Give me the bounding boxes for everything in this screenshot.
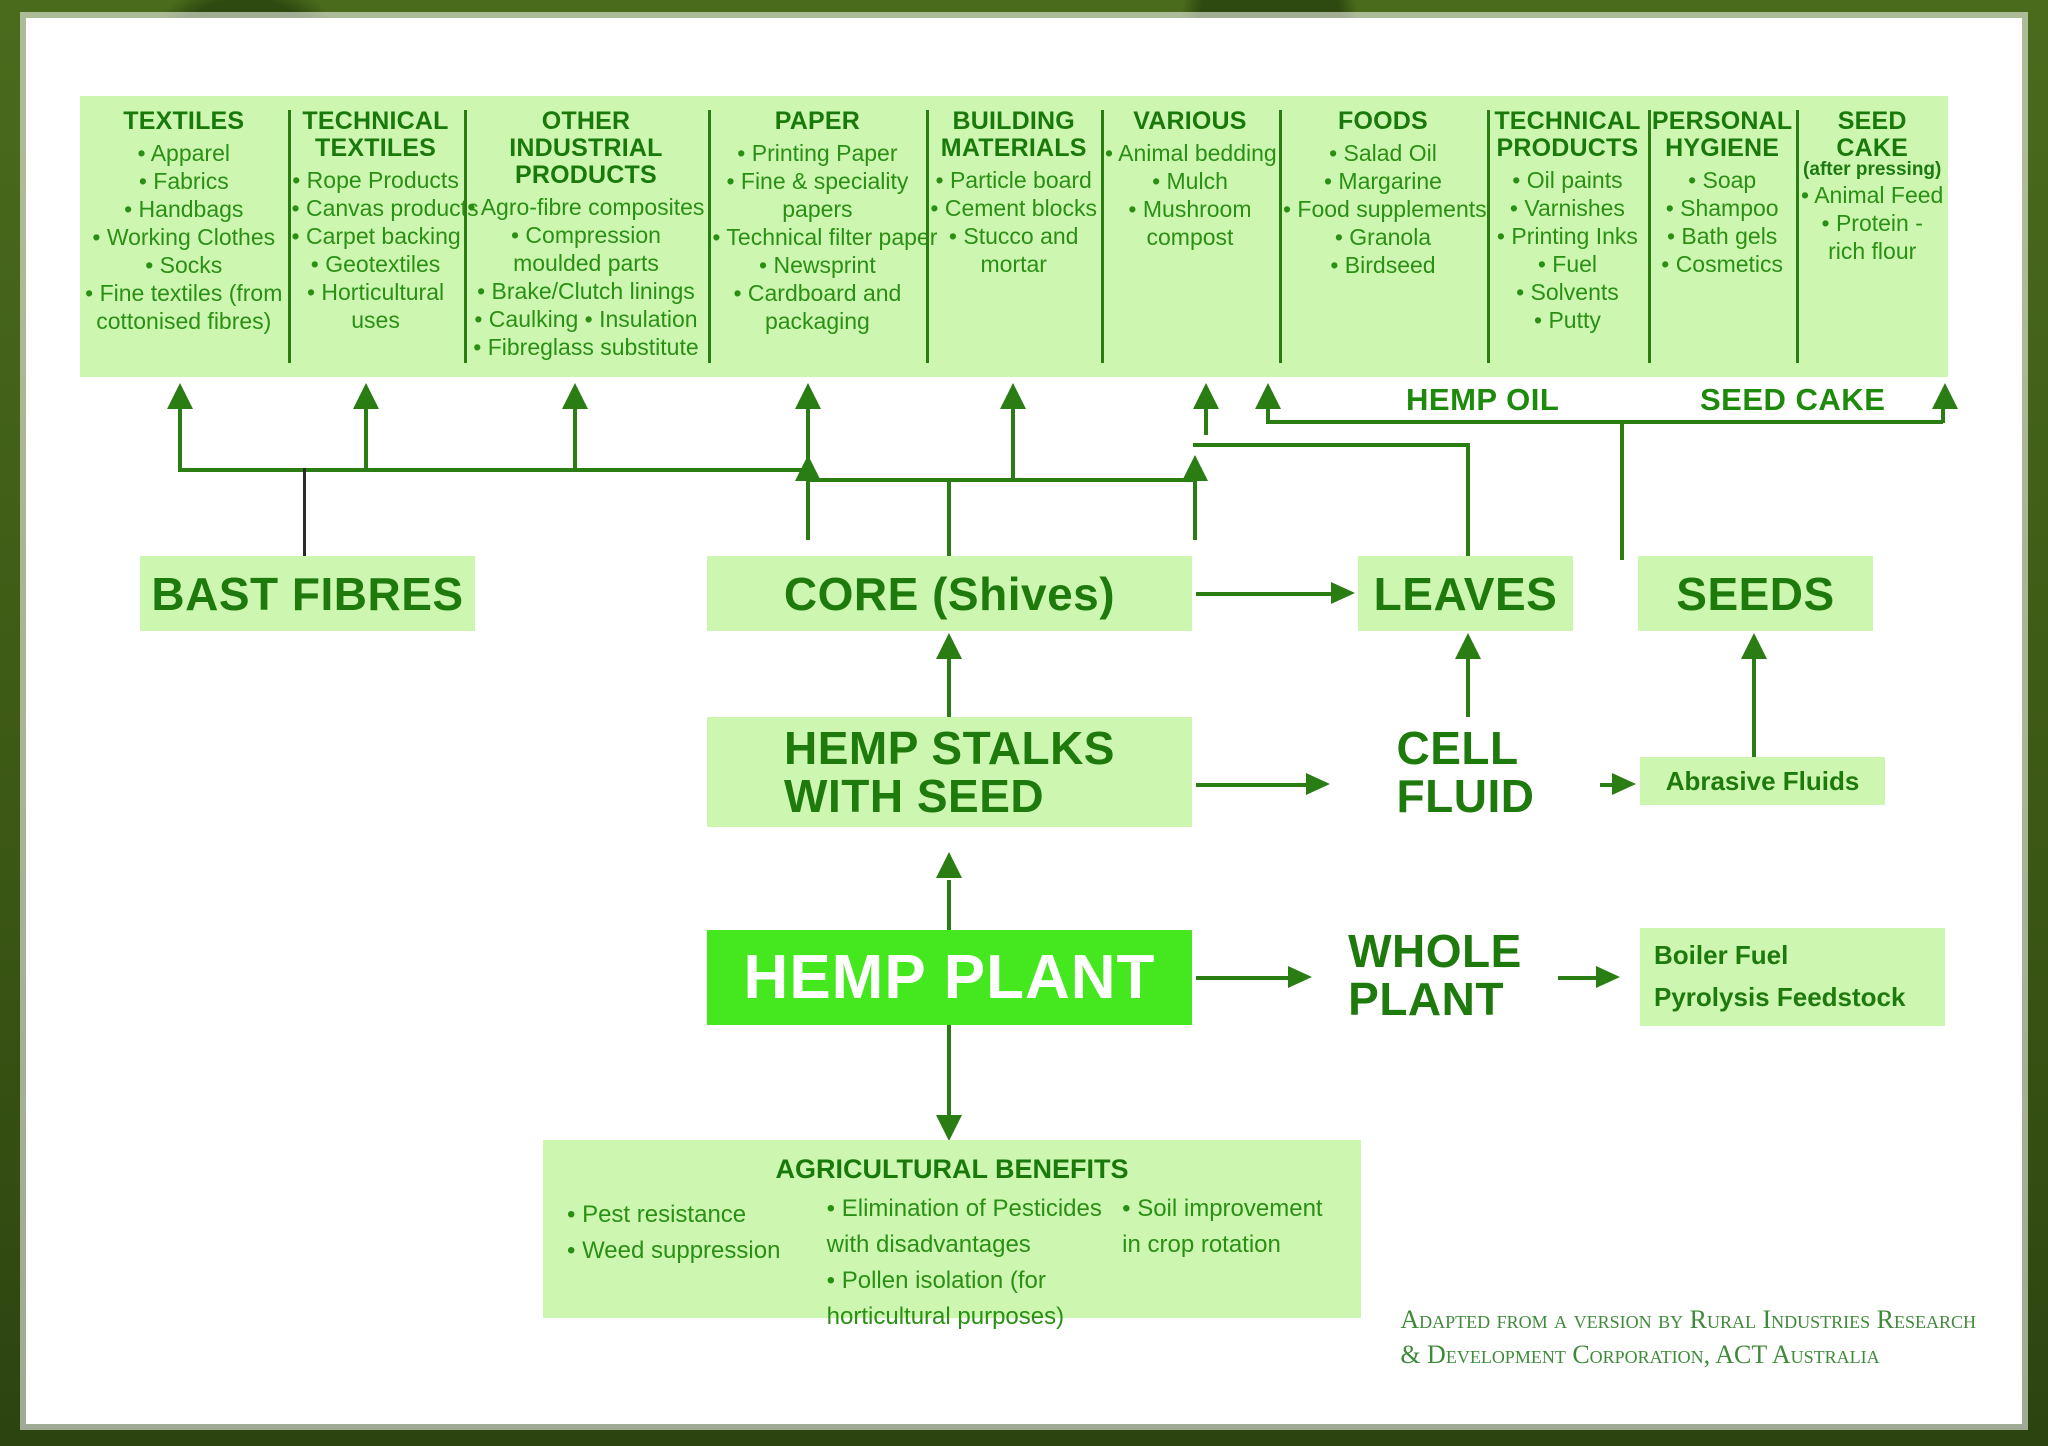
list-item: • Fine & speciality papers <box>712 167 922 223</box>
riser-other-industrial <box>573 405 577 470</box>
cellfluid-to-leaves-line <box>1466 657 1470 717</box>
whole-to-boiler-line <box>1558 976 1600 980</box>
box-abrasive-fluids[interactable]: Abrasive Fluids <box>1640 757 1885 805</box>
list-item: • Weed suppression <box>567 1233 827 1269</box>
list-item: • Apparel <box>84 139 284 167</box>
list-item: • Compression moulded parts <box>468 221 705 277</box>
label-seed-cake: SEED CAKE <box>1700 382 1885 418</box>
plant-to-stalks-arrowhead <box>936 852 962 878</box>
list-item: • Cosmetics <box>1652 250 1793 278</box>
list-item: • Stucco and mortar <box>930 222 1097 278</box>
list-item: • Soap <box>1652 166 1793 194</box>
list-item: • Fuel <box>1491 250 1644 278</box>
column-list: • Apparel • Fabrics • Handbags • Working… <box>84 139 284 335</box>
column-list: • Agro-fibre composites • Compression mo… <box>468 193 705 361</box>
product-column-building-materials: BUILDINGMATERIALS • Particle board • Cem… <box>926 96 1101 377</box>
boiler-fuel-label: Boiler Fuel <box>1654 935 1788 977</box>
list-item: • Cement blocks <box>930 194 1097 222</box>
list-item: • Granola <box>1283 223 1483 251</box>
list-item: • Margarine <box>1283 167 1483 195</box>
list-item: • Shampoo <box>1652 194 1793 222</box>
bast-bus-bar <box>178 468 810 472</box>
list-item: • Socks <box>84 251 284 279</box>
core-stem <box>947 478 951 558</box>
list-item: • Handbags <box>84 195 284 223</box>
column-list: • Salad Oil • Margarine • Food supplemen… <box>1283 139 1483 279</box>
box-core-shives[interactable]: CORE (Shives) <box>707 556 1192 631</box>
list-item: • Carpet backing <box>292 222 460 250</box>
product-column-various: VARIOUS • Animal bedding • Mulch • Mushr… <box>1101 96 1279 377</box>
list-item: • Technical filter paper <box>712 223 922 251</box>
column-list: • Animal bedding • Mulch • Mushroom comp… <box>1105 139 1275 251</box>
column-title: PERSONALHYGIENE <box>1652 108 1793 162</box>
list-item: • Geotextiles <box>292 250 460 278</box>
product-column-technical-products: TECHNICALPRODUCTS • Oil paints • Varnish… <box>1487 96 1648 377</box>
list-item: • Putty <box>1491 306 1644 334</box>
core-to-leaves-arrowhead <box>1331 582 1355 604</box>
list-item: • Pest resistance <box>567 1197 827 1233</box>
column-title: TECHNICALTEXTILES <box>292 108 460 162</box>
riser-textiles <box>178 405 182 470</box>
list-item: • Printing Paper <box>712 139 922 167</box>
list-item: • Mushroom compost <box>1105 195 1275 251</box>
riser-various-core <box>1193 480 1197 540</box>
stalks-to-cellfluid-line <box>1196 783 1308 787</box>
oil-seedcake-bus <box>1266 420 1943 424</box>
list-item: • Fabrics <box>84 167 284 195</box>
list-item: • Fine textiles (from cottonised fibres) <box>84 279 284 335</box>
list-item: • Fibreglass substitute <box>468 333 705 361</box>
column-list: • Rope Products • Canvas products • Carp… <box>292 166 460 334</box>
list-item: • Solvents <box>1491 278 1644 306</box>
list-item: • Animal Feed <box>1800 181 1944 209</box>
list-item: • Newsprint <box>712 251 922 279</box>
hemp-products-diagram: TEXTILES • Apparel • Fabrics • Handbags … <box>0 0 2048 1446</box>
credit-line-2: & Development Corporation, ACT Australia <box>1400 1337 1976 1372</box>
column-list: • Particle board • Cement blocks • Stucc… <box>930 166 1097 278</box>
column-title: PAPER <box>712 108 922 135</box>
riser-building-materials <box>1011 405 1015 480</box>
box-hemp-stalks-with-seed[interactable]: HEMP STALKSWITH SEED <box>707 717 1192 827</box>
list-item: • Oil paints <box>1491 166 1644 194</box>
column-title: TEXTILES <box>84 108 284 135</box>
benefits-columns: • Pest resistance • Weed suppression • E… <box>543 1185 1361 1351</box>
list-item: • Birdseed <box>1283 251 1483 279</box>
cellfluid-to-leaves-arrowhead <box>1455 633 1481 659</box>
bast-fibres-stem <box>303 468 306 556</box>
box-seeds[interactable]: SEEDS <box>1638 556 1873 631</box>
core-bus-bar <box>806 478 1196 482</box>
list-item: • Agro-fibre composites <box>468 193 705 221</box>
product-column-foods: FOODS • Salad Oil • Margarine • Food sup… <box>1279 96 1487 377</box>
list-item: • Working Clothes <box>84 223 284 251</box>
product-column-personal-hygiene: PERSONALHYGIENE • Soap • Shampoo • Bath … <box>1648 96 1797 377</box>
column-title: TECHNICALPRODUCTS <box>1491 108 1644 162</box>
arrowhead-seed-cake <box>1932 383 1958 409</box>
box-bast-fibres[interactable]: BAST FIBRES <box>140 556 475 631</box>
list-item: • Food supplements <box>1283 195 1483 223</box>
column-list: • Printing Paper • Fine & speciality pap… <box>712 139 922 335</box>
leaves-bus <box>1193 443 1470 447</box>
box-whole-plant[interactable]: WHOLEPLANT <box>1320 920 1550 1030</box>
label-hemp-oil: HEMP OIL <box>1406 382 1559 418</box>
list-item: • Protein - rich flour <box>1800 209 1944 265</box>
products-strip: TEXTILES • Apparel • Fabrics • Handbags … <box>80 96 1948 377</box>
plant-to-whole-line <box>1196 976 1291 980</box>
riser-various <box>1204 405 1208 435</box>
plant-to-benefits-line <box>947 1025 951 1125</box>
list-item: • Cardboard and packaging <box>712 279 922 335</box>
column-subtitle: (after pressing) <box>1800 160 1944 181</box>
box-line-1: HEMP STALKSWITH SEED <box>784 724 1115 821</box>
column-title: OTHERINDUSTRIALPRODUCTS <box>468 108 705 189</box>
plant-to-benefits-arrowhead <box>936 1115 962 1141</box>
benefits-title: AGRICULTURAL BENEFITS <box>543 1140 1361 1185</box>
stalks-to-core-line <box>947 657 951 717</box>
product-column-paper: PAPER • Printing Paper • Fine & speciali… <box>708 96 926 377</box>
box-cell-fluid[interactable]: CELLFLUID <box>1338 717 1593 827</box>
list-item: • Caulking • Insulation <box>468 305 705 333</box>
list-item: • Bath gels <box>1652 222 1793 250</box>
whole-to-boiler-arrowhead <box>1596 966 1620 988</box>
column-list: • Animal Feed • Protein - rich flour <box>1800 181 1944 265</box>
plant-to-whole-arrowhead <box>1288 966 1312 988</box>
list-item: • Particle board <box>930 166 1097 194</box>
list-item: • Mulch <box>1105 167 1275 195</box>
riser-paper-core <box>806 480 810 540</box>
list-item: • Salad Oil <box>1283 139 1483 167</box>
list-item: • Soil improvement in crop rotation <box>1122 1191 1337 1263</box>
leaves-stem <box>1466 445 1470 560</box>
stalks-to-core-arrowhead <box>936 633 962 659</box>
credit-line-1: Adapted from a version by Rural Industri… <box>1400 1302 1976 1337</box>
product-column-technical-textiles: TECHNICALTEXTILES • Rope Products • Canv… <box>288 96 464 377</box>
agricultural-benefits-box: AGRICULTURAL BENEFITS • Pest resistance … <box>543 1140 1361 1318</box>
column-title: FOODS <box>1283 108 1483 135</box>
column-list: • Oil paints • Varnishes • Printing Inks… <box>1491 166 1644 334</box>
seeds-stem <box>1620 420 1624 560</box>
benefits-column-1: • Pest resistance • Weed suppression <box>567 1191 827 1335</box>
column-list: • Soap • Shampoo • Bath gels • Cosmetics <box>1652 166 1793 278</box>
box-leaves[interactable]: LEAVES <box>1358 556 1573 631</box>
list-item: • Elimination of Pesticides with disadva… <box>827 1191 1122 1263</box>
product-column-other-industrial: OTHERINDUSTRIALPRODUCTS • Agro-fibre com… <box>464 96 709 377</box>
riser-seed-cake <box>1941 405 1945 423</box>
column-title: SEEDCAKE <box>1800 108 1944 162</box>
list-item: • Varnishes <box>1491 194 1644 222</box>
pyrolysis-label: Pyrolysis Feedstock <box>1654 977 1905 1019</box>
box-boiler-fuel-pyrolysis[interactable]: Boiler Fuel Pyrolysis Feedstock <box>1640 928 1945 1026</box>
list-item: • Horticultural uses <box>292 278 460 334</box>
list-item: • Rope Products <box>292 166 460 194</box>
list-item: • Printing Inks <box>1491 222 1644 250</box>
list-item: • Brake/Clutch linings <box>468 277 705 305</box>
riser-technical-textiles <box>364 405 368 470</box>
abrasive-to-seeds-arrowhead <box>1741 633 1767 659</box>
column-title: BUILDINGMATERIALS <box>930 108 1097 162</box>
column-title: VARIOUS <box>1105 108 1275 135</box>
box-hemp-plant[interactable]: HEMP PLANT <box>707 930 1192 1025</box>
core-to-leaves-line <box>1196 592 1333 596</box>
list-item: • Pollen isolation (for horticultural pu… <box>827 1263 1122 1335</box>
list-item: • Canvas products <box>292 194 460 222</box>
stalks-to-cellfluid-arrowhead <box>1306 773 1330 795</box>
list-item: • Animal bedding <box>1105 139 1275 167</box>
benefits-column-2: • Elimination of Pesticides with disadva… <box>827 1191 1122 1335</box>
benefits-column-3: • Soil improvement in crop rotation <box>1122 1191 1337 1335</box>
credit-attribution: Adapted from a version by Rural Industri… <box>1400 1302 1976 1372</box>
cellfluid-to-abrasive-arrowhead <box>1612 773 1636 795</box>
product-column-textiles: TEXTILES • Apparel • Fabrics • Handbags … <box>80 96 288 377</box>
product-column-seed-cake: SEEDCAKE (after pressing) • Animal Feed … <box>1796 96 1948 377</box>
